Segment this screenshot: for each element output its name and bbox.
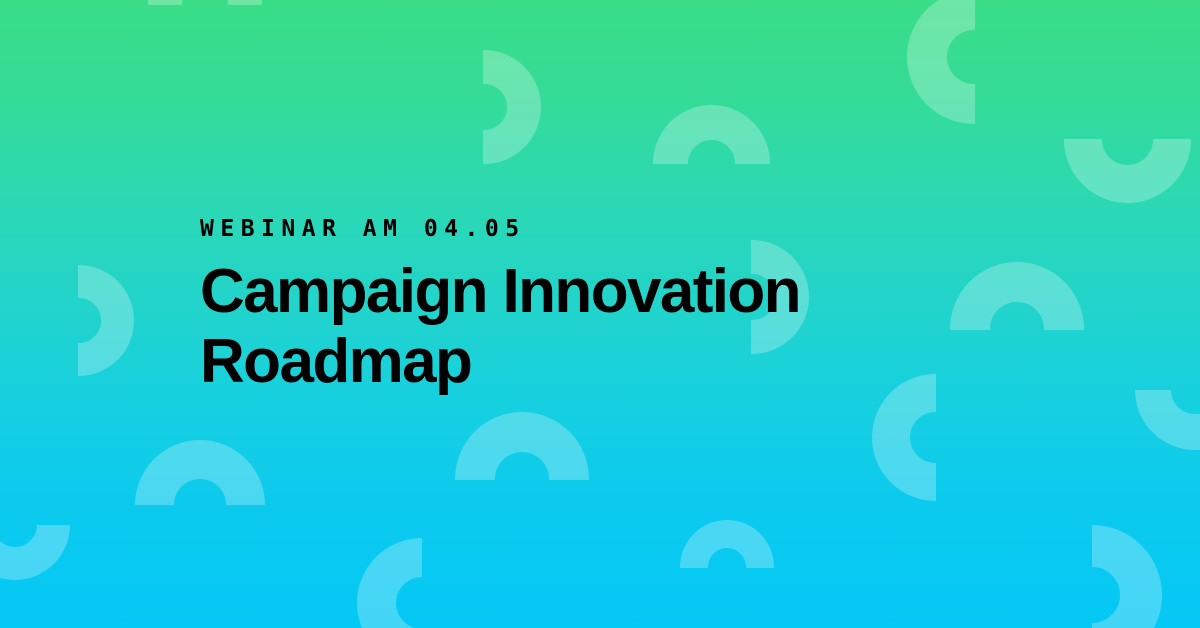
page-title: Campaign Innovation Roadmap — [200, 257, 960, 397]
half-ring-down-icon — [0, 525, 70, 580]
half-ring-up-icon — [148, 0, 262, 5]
arc-ring — [135, 440, 265, 505]
arc-ring — [1064, 139, 1191, 203]
arc-ring — [78, 265, 134, 376]
arc-ring — [455, 412, 589, 480]
eyebrow-label: WEBINAR AM 04.05 — [200, 218, 960, 241]
webinar-promo-banner: WEBINAR AM 04.05 Campaign Innovation Roa… — [0, 0, 1200, 628]
half-ring-up-icon — [455, 412, 591, 480]
arc-ring — [357, 538, 422, 628]
arc-ring — [148, 0, 262, 5]
half-ring-down-icon — [1135, 390, 1200, 450]
arc-ring — [680, 520, 774, 568]
half-ring-up-icon — [680, 520, 776, 568]
arc-ring — [653, 105, 770, 164]
page-title-line-2: Roadmap — [200, 327, 960, 397]
half-ring-right-icon — [1092, 525, 1162, 628]
half-ring-right-icon — [483, 50, 541, 166]
page-title-line-1: Campaign Innovation — [200, 257, 960, 327]
half-ring-down-icon — [1063, 139, 1191, 203]
arc-ring — [907, 0, 975, 124]
arc-ring — [1135, 390, 1200, 450]
arc-ring — [483, 50, 541, 164]
arc-ring — [1092, 525, 1162, 628]
half-ring-up-icon — [653, 105, 771, 164]
half-ring-up-icon — [135, 440, 265, 505]
half-ring-up-icon — [950, 262, 1086, 330]
banner-content: WEBINAR AM 04.05 Campaign Innovation Roa… — [200, 218, 960, 397]
half-ring-right-icon — [78, 265, 134, 377]
arc-ring — [0, 525, 70, 580]
half-ring-left-icon — [907, 0, 975, 124]
arc-ring — [950, 262, 1084, 330]
half-ring-left-icon — [357, 538, 422, 628]
